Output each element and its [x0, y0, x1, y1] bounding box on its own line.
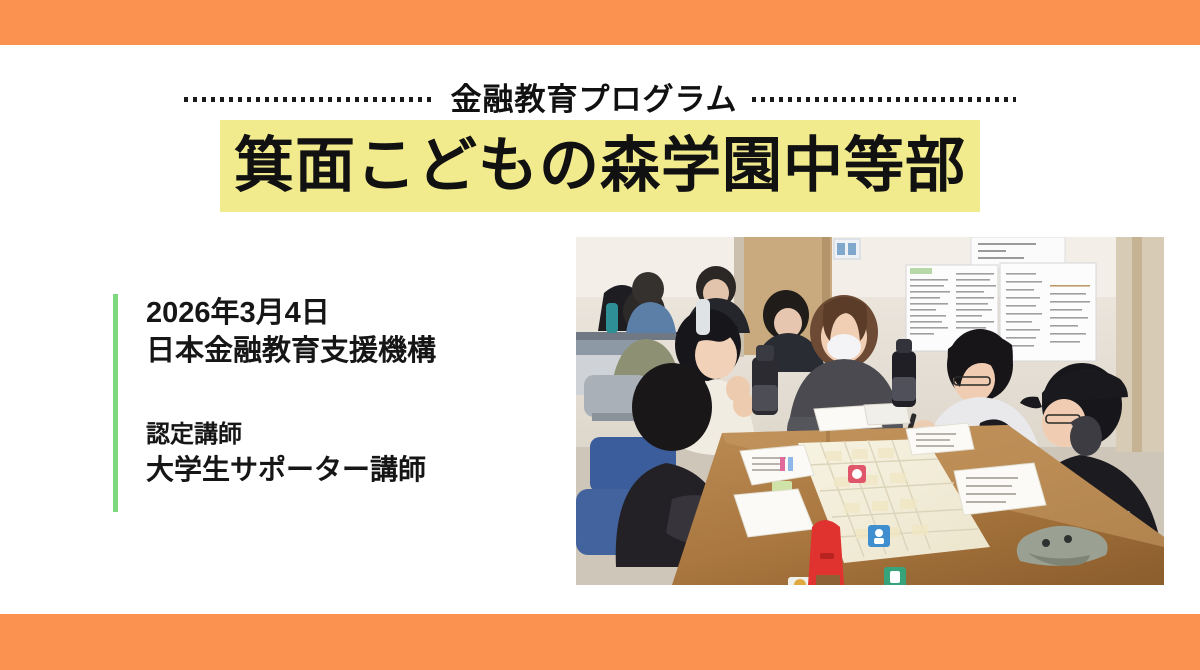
instructor-group: 認定講師 大学生サポーター講師 [146, 419, 436, 490]
classroom-photo [576, 237, 1164, 585]
school-name-container: 箕面こどもの森学園中等部 [0, 120, 1200, 212]
instructor-role-label: 認定講師 [146, 419, 436, 452]
organization-name: 日本金融教育支援機構 [146, 332, 436, 370]
event-date: 2026年3月4日 [146, 294, 436, 332]
bottom-orange-band [0, 614, 1200, 670]
program-label: 金融教育プログラム [450, 84, 737, 115]
school-name-highlight: 箕面こどもの森学園中等部 [220, 120, 980, 212]
program-header-row: 金融教育プログラム [0, 82, 1200, 116]
event-info-block: 2026年3月4日 日本金融教育支援機構 認定講師 大学生サポーター講師 [113, 294, 436, 512]
slide-root: 金融教育プログラム 箕面こどもの森学園中等部 2026年3月4日 日本金融教育支… [0, 0, 1200, 670]
instructor-role-name: 大学生サポーター講師 [146, 451, 436, 489]
dotted-rule-left-icon [184, 97, 436, 102]
classroom-photo-illustration [576, 237, 1164, 585]
dotted-rule-right-icon [752, 97, 1016, 102]
top-orange-band [0, 0, 1200, 45]
